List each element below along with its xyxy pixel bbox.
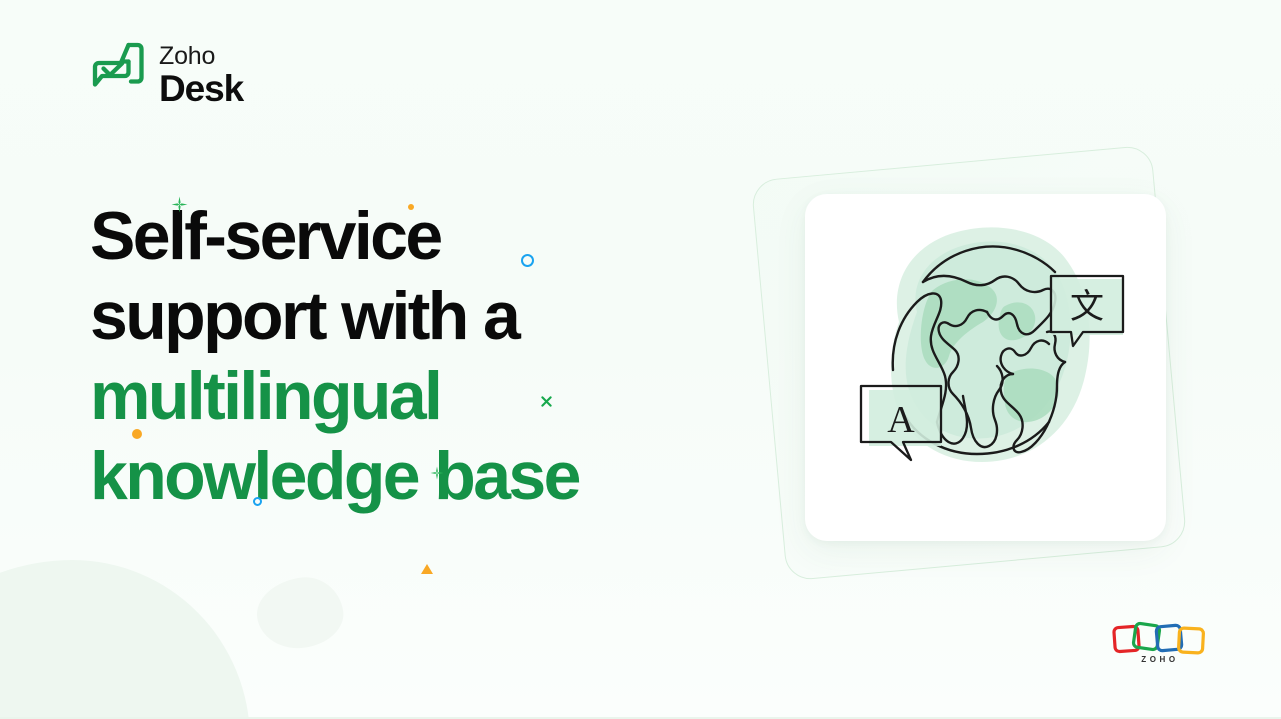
headline-line-2: support with a: [90, 276, 710, 356]
logo-wordmark: Zoho Desk: [159, 44, 243, 107]
zoho-corp-logo[interactable]: ZOHO: [1112, 620, 1208, 664]
globe-translation-illustration: 文 A: [805, 194, 1166, 541]
zoho-corp-wordmark: ZOHO: [1141, 655, 1179, 664]
triangle-orange-icon: [421, 564, 433, 574]
headline-line-4: knowledge base: [90, 436, 710, 516]
zoho-desk-logo[interactable]: Zoho Desk: [90, 41, 243, 109]
sparkle-green-icon: [171, 196, 188, 218]
bubble-cjk-text: 文: [1070, 287, 1104, 327]
background-blob-large: [0, 560, 250, 719]
dot-orange-small-icon: [408, 204, 414, 210]
zoho-desk-speech-bubble-check-icon: [90, 41, 146, 109]
bubble-latin-text: A: [887, 399, 915, 441]
logo-zoho-text: Zoho: [159, 44, 243, 69]
panel-card: 文 A: [805, 194, 1166, 541]
background-blob-small: [253, 572, 348, 653]
slide-canvas: Zoho Desk Self-service support with a mu…: [0, 0, 1281, 719]
sparkle-green-small-icon: [430, 466, 444, 485]
logo-desk-text: Desk: [159, 70, 243, 107]
ring-blue-small-icon: [253, 497, 262, 506]
ring-blue-icon: [521, 254, 534, 267]
dot-orange-icon: [132, 429, 142, 439]
page-title: Self-service support with a multilingual…: [90, 196, 710, 516]
headline-line-3: multilingual: [90, 356, 710, 436]
cross-green-icon: [541, 394, 552, 412]
illustration-panel: 文 A: [760, 150, 1210, 590]
